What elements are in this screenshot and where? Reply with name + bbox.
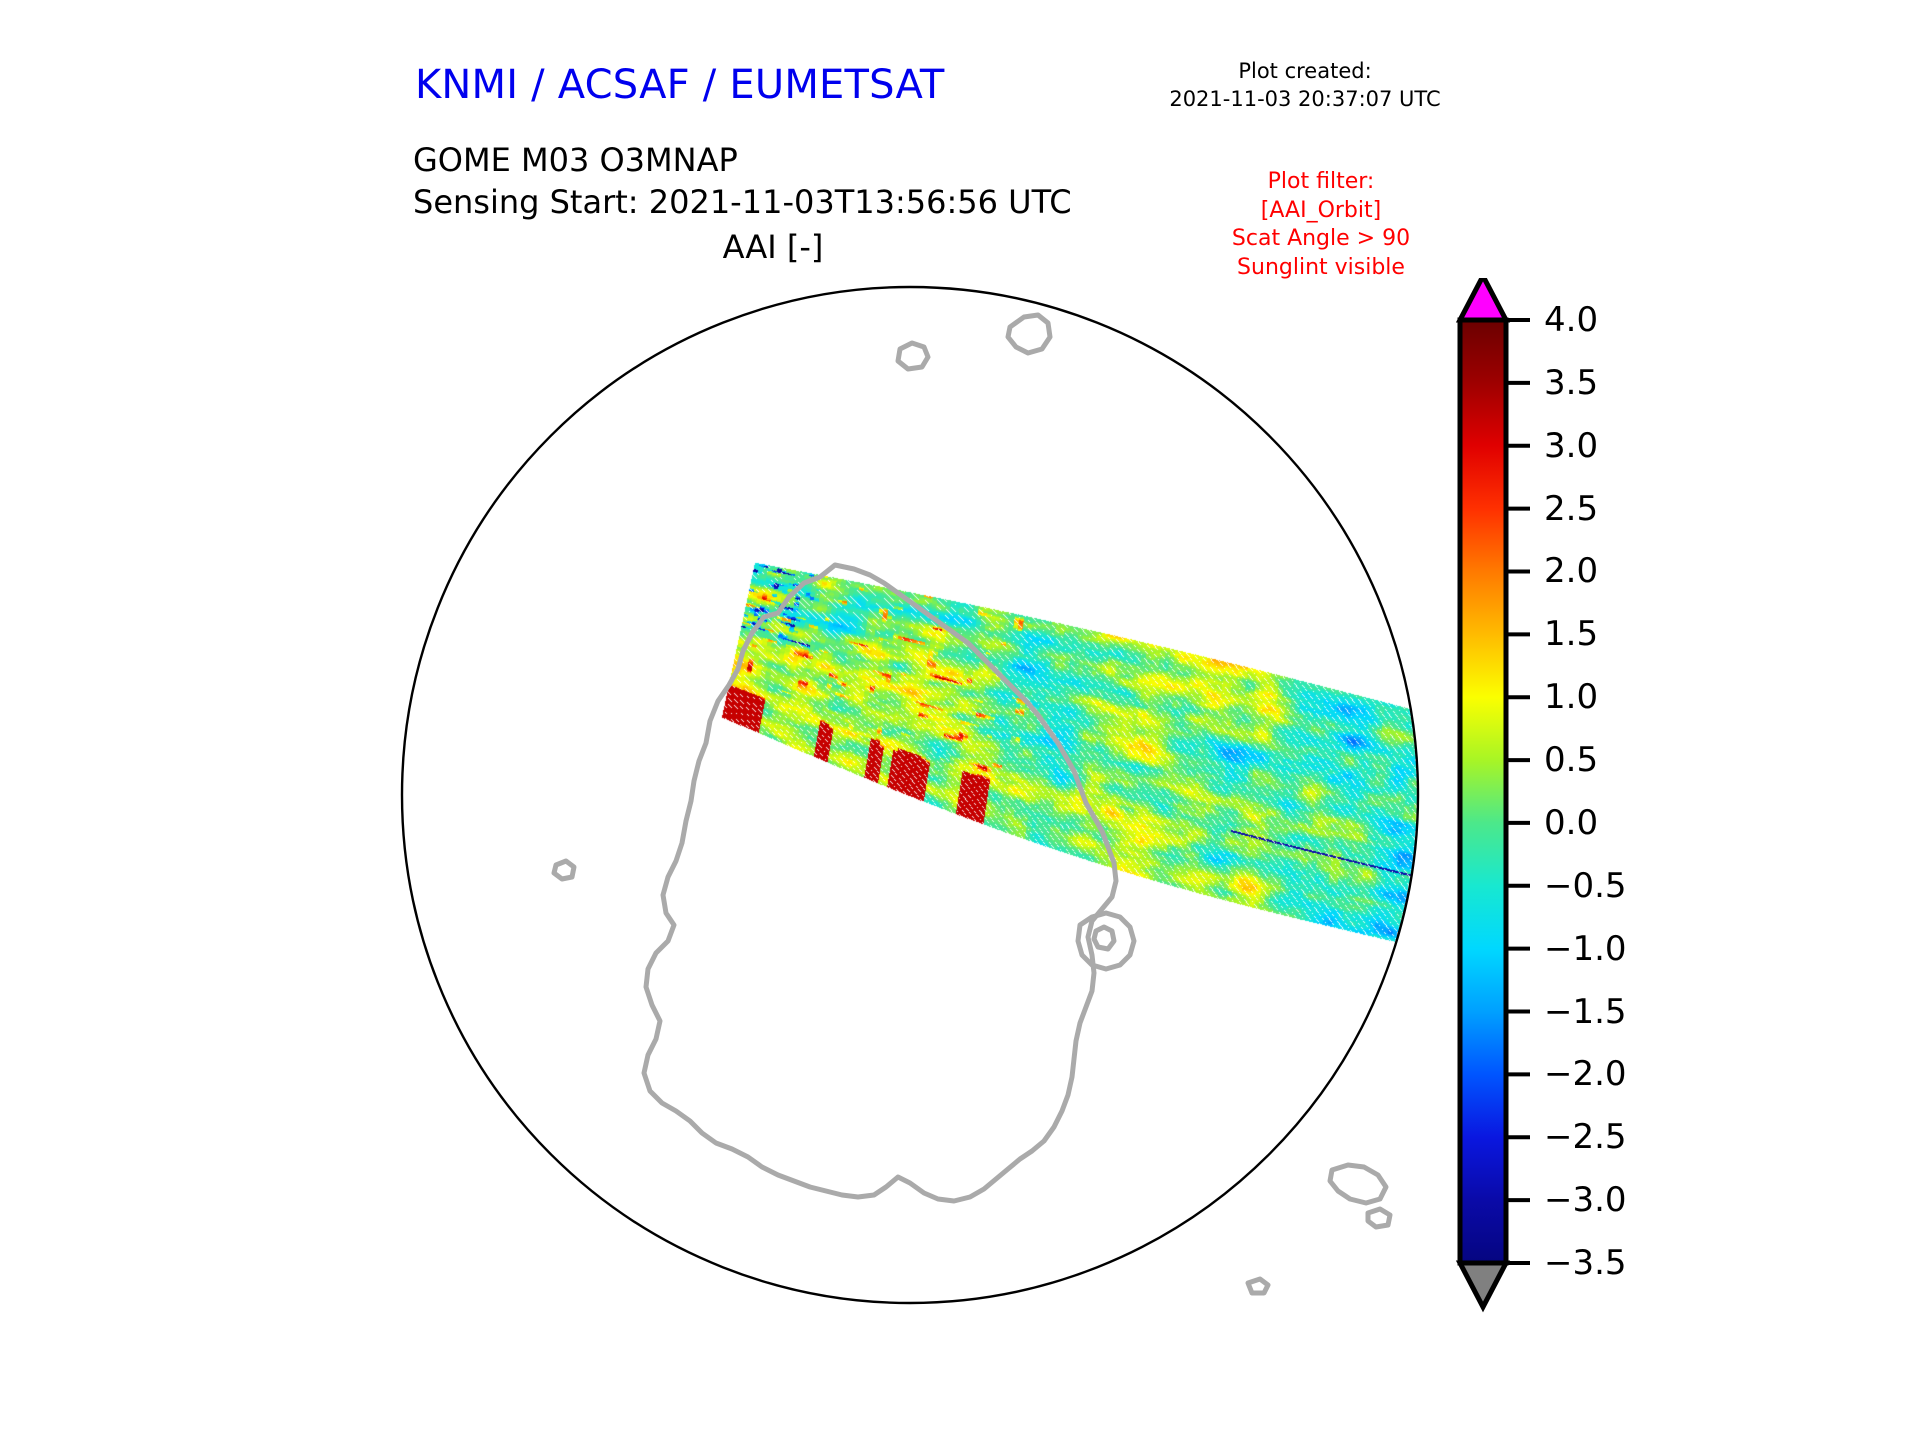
colorbar-tick-label: 0.5 xyxy=(1544,743,1598,777)
organisation-header: KNMI / ACSAF / EUMETSAT xyxy=(415,62,945,108)
coastline-path xyxy=(1368,1209,1390,1227)
coastline-path xyxy=(1330,1165,1386,1203)
colorbar-tick-label: −3.0 xyxy=(1544,1183,1627,1217)
plot-created-block: Plot created: 2021-11-03 20:37:07 UTC xyxy=(1160,58,1450,113)
map-plot-area xyxy=(380,265,1440,1325)
coastline-group xyxy=(554,315,1390,1293)
coastline-path xyxy=(1248,1279,1268,1293)
colorbar-tick-label: 2.5 xyxy=(1544,492,1598,526)
plot-filter-line-1: Scat Angle > 90 xyxy=(1180,225,1462,254)
colorbar-under-arrow xyxy=(1460,1263,1506,1307)
coastline-path xyxy=(1094,927,1114,949)
globe-outline xyxy=(402,287,1418,1303)
colorbar-over-arrow xyxy=(1460,278,1506,320)
colorbar: 4.03.53.02.52.01.51.00.50.0−0.5−1.0−1.5−… xyxy=(1440,278,1860,1338)
colorbar-tick-label: 1.0 xyxy=(1544,680,1598,714)
colorbar-tick-label: −3.5 xyxy=(1544,1246,1627,1280)
page-title: AAI [-] xyxy=(413,228,1133,266)
map-vector-layer xyxy=(380,265,1440,1325)
colorbar-tick-label: 3.5 xyxy=(1544,366,1598,400)
product-name: GOME M03 O3MNAP xyxy=(413,140,1072,182)
plot-created-timestamp: 2021-11-03 20:37:07 UTC xyxy=(1160,86,1450,114)
coastline-path xyxy=(898,343,928,369)
colorbar-tick-label: −2.0 xyxy=(1544,1057,1627,1091)
colorbar-tick-label: 1.5 xyxy=(1544,617,1598,651)
colorbar-gradient-bar xyxy=(1460,320,1506,1263)
coastline-path xyxy=(554,861,574,879)
colorbar-tick-label: 0.0 xyxy=(1544,806,1598,840)
colorbar-tick-label: −1.0 xyxy=(1544,932,1627,966)
colorbar-tick-label: 4.0 xyxy=(1544,303,1598,337)
colorbar-tick-label: −1.5 xyxy=(1544,995,1627,1029)
sensing-start: Sensing Start: 2021-11-03T13:56:56 UTC xyxy=(413,182,1072,224)
plot-filter-line-0: [AAI_Orbit] xyxy=(1180,197,1462,226)
colorbar-tick-label: 2.0 xyxy=(1544,554,1598,588)
plot-created-label: Plot created: xyxy=(1160,58,1450,86)
coastline-path xyxy=(1008,315,1050,353)
colorbar-tick-marks xyxy=(1506,320,1530,1263)
colorbar-tick-label: −2.5 xyxy=(1544,1120,1627,1154)
colorbar-graphic xyxy=(1440,278,1860,1338)
colorbar-tick-label: −0.5 xyxy=(1544,869,1627,903)
colorbar-tick-label: 3.0 xyxy=(1544,429,1598,463)
plot-filter-title: Plot filter: xyxy=(1180,168,1462,197)
coastline-path xyxy=(644,565,1116,1201)
product-info-block: GOME M03 O3MNAP Sensing Start: 2021-11-0… xyxy=(413,140,1072,223)
